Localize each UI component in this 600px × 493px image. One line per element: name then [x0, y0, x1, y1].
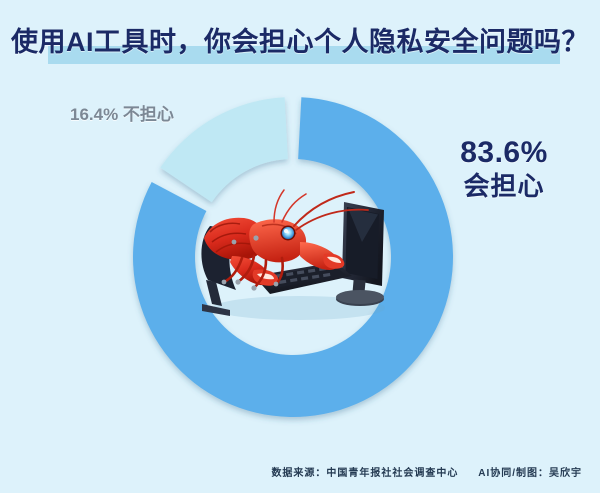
monitor-icon	[336, 202, 384, 306]
page-title: 使用AI工具时，你会担心个人隐私安全问题吗？	[0, 22, 600, 70]
label-not-worried: 16.4% 不担心	[70, 100, 174, 125]
label-worried-caption: 会担心	[424, 170, 584, 202]
footer: 数据来源：中国青年报社社会调查中心 AI协同/制图：吴欣宇	[0, 464, 600, 479]
footer-credit: AI协同/制图：吴欣宇	[478, 468, 582, 479]
infographic-canvas: 使用AI工具时，你会担心个人隐私安全问题吗？	[0, 0, 600, 493]
label-worried: 83.6% 会担心	[424, 136, 584, 202]
title-text: 使用AI工具时，你会担心个人隐私安全问题吗？	[0, 22, 600, 62]
footer-source: 数据来源：中国青年报社社会调查中心	[271, 468, 458, 479]
label-worried-percent: 83.6%	[424, 136, 584, 170]
lobster-at-computer-illustration	[196, 180, 396, 326]
